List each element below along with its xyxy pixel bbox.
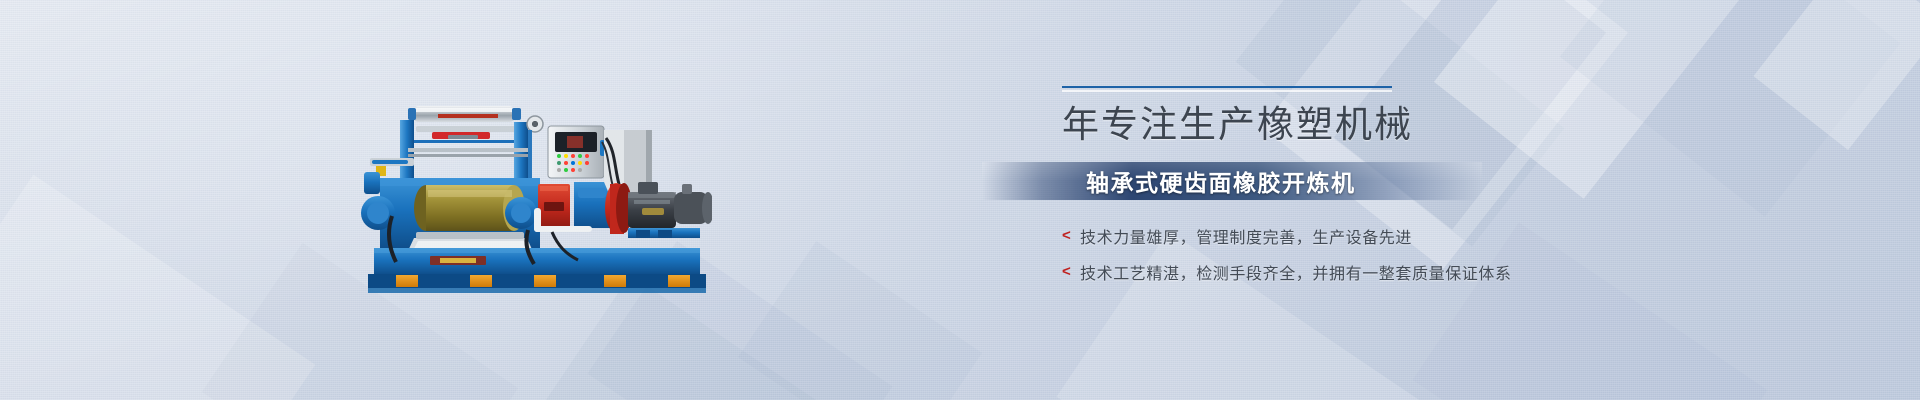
subtitle-text: 轴承式硬齿面橡胶开炼机	[1086, 164, 1356, 198]
subtitle-banner-bar: 轴承式硬齿面橡胶开炼机	[982, 162, 1482, 200]
bg-polygon	[1753, 0, 1920, 150]
bg-polygon	[1560, 0, 1900, 217]
banner-text-content: 年专注生产橡塑机械 轴承式硬齿面橡胶开炼机 < 技术力量雄厚，管理制度完善，生产…	[1040, 86, 1600, 296]
product-image-rubber-mixing-mill	[352, 96, 712, 312]
chevron-left-icon: <	[1062, 228, 1080, 243]
bullet-text: 技术工艺精湛，检测手段齐全，并拥有一整套质量保证体系	[1080, 260, 1512, 284]
bullet-text: 技术力量雄厚，管理制度完善，生产设备先进	[1080, 224, 1412, 248]
feature-bullet-list: < 技术力量雄厚，管理制度完善，生产设备先进 < 技术工艺精湛，检测手段齐全，并…	[1062, 224, 1600, 284]
chevron-left-icon: <	[1062, 264, 1080, 279]
headline-rule-grey	[1062, 90, 1392, 92]
promo-banner: 年专注生产橡塑机械 轴承式硬齿面橡胶开炼机 < 技术力量雄厚，管理制度完善，生产…	[0, 0, 1920, 400]
bg-polygon	[738, 241, 982, 400]
bg-polygon	[0, 175, 315, 400]
list-item: < 技术力量雄厚，管理制度完善，生产设备先进	[1062, 224, 1600, 248]
page-title: 年专注生产橡塑机械	[1062, 104, 1600, 148]
headline-rule	[1062, 86, 1392, 92]
background-geometric-shapes	[0, 0, 1920, 400]
headline-rule-blue	[1062, 86, 1392, 88]
list-item: < 技术工艺精湛，检测手段齐全，并拥有一整套质量保证体系	[1062, 260, 1600, 284]
background-noise-texture	[0, 0, 1920, 400]
